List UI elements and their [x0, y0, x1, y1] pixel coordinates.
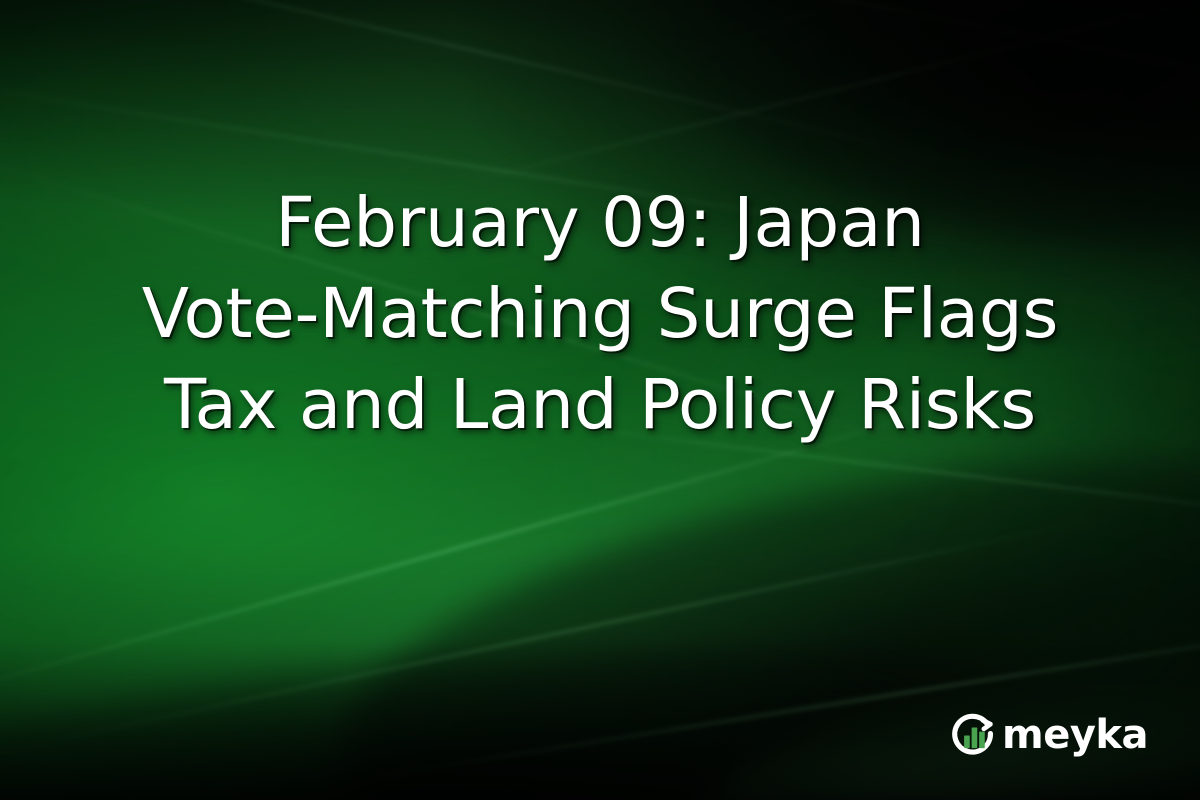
meyka-circle-bar-chart-icon	[950, 711, 997, 758]
meyka-logo[interactable]: meyka	[950, 711, 1148, 758]
logo-bar-middle	[972, 727, 978, 748]
meyka-wordmark: meyka	[1002, 715, 1148, 755]
article-banner-card: February 09: Japan Vote-Matching Surge F…	[0, 0, 1200, 800]
headline-line-2: Vote-Matching Surge Flags	[60, 269, 1140, 360]
headline-line-3: Tax and Land Policy Risks	[60, 360, 1140, 451]
page-title: February 09: Japan Vote-Matching Surge F…	[0, 178, 1200, 451]
logo-bar-left	[964, 735, 970, 748]
logo-bar-right	[979, 732, 985, 748]
headline-line-1: February 09: Japan	[60, 178, 1140, 269]
